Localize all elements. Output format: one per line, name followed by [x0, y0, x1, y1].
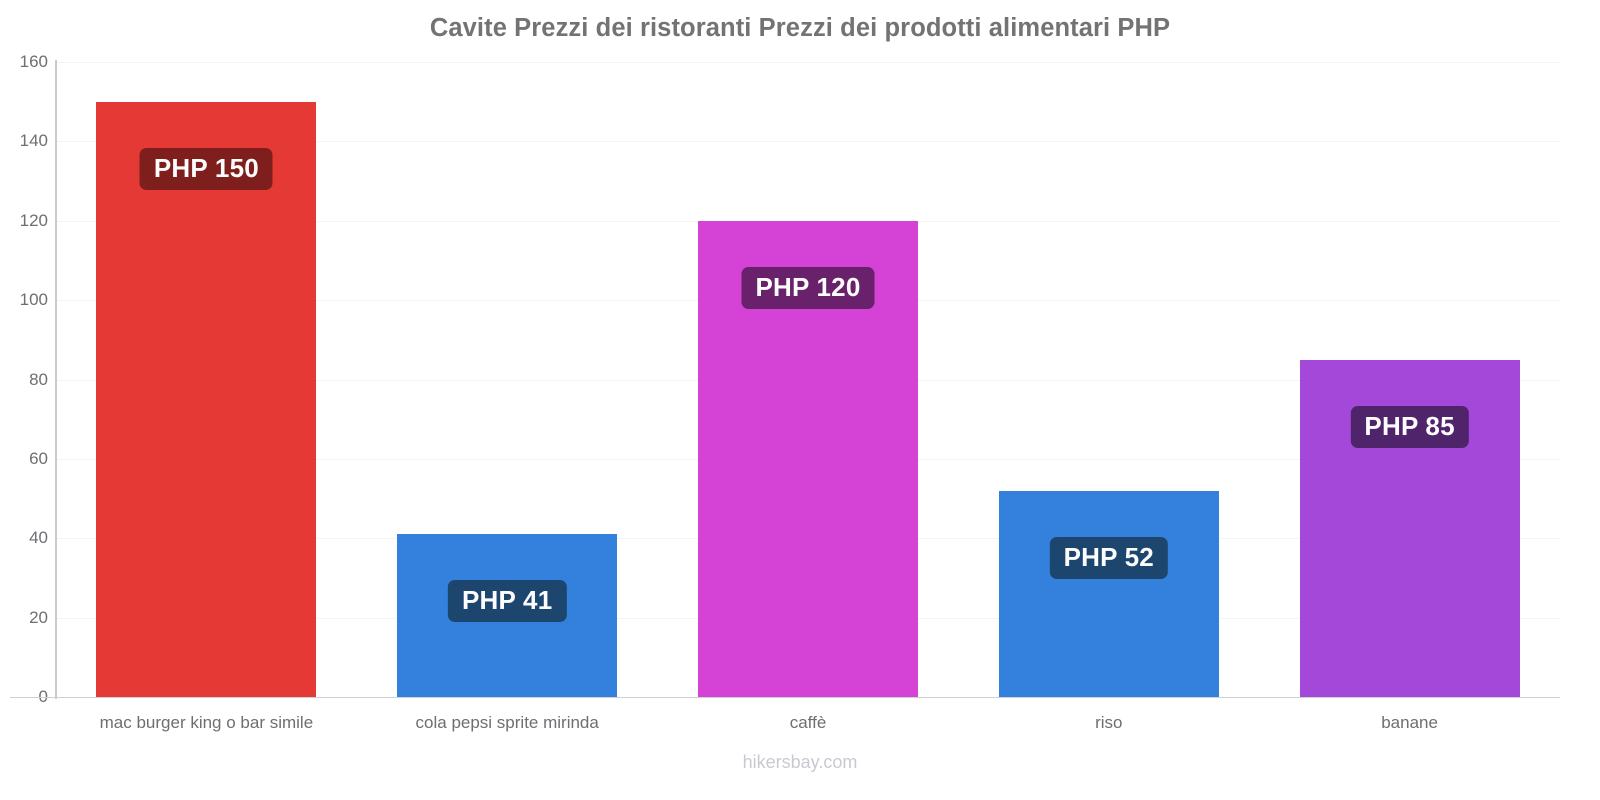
bar-value-label: PHP 41 [448, 580, 566, 622]
x-axis-label: cola pepsi sprite mirinda [416, 713, 599, 733]
y-tick-label-40: 40 [2, 528, 48, 548]
y-tick-label-80: 80 [2, 370, 48, 390]
bar-value-label: PHP 150 [140, 148, 273, 190]
watermark: hikersbay.com [0, 752, 1600, 773]
bar-value-label: PHP 120 [742, 267, 875, 309]
x-axis-label: riso [1095, 713, 1122, 733]
y-axis-line [55, 60, 57, 699]
bar-chart: Cavite Prezzi dei ristoranti Prezzi dei … [0, 0, 1600, 800]
gridline-160 [56, 62, 1560, 63]
chart-title: Cavite Prezzi dei ristoranti Prezzi dei … [0, 14, 1600, 43]
y-tick-label-20: 20 [2, 608, 48, 628]
bar[interactable] [96, 102, 316, 697]
y-tick-label-60: 60 [2, 449, 48, 469]
x-axis-label: caffè [790, 713, 827, 733]
y-axis-tick-labels: 020406080100120140160 [0, 0, 48, 800]
plot-area [56, 62, 1560, 697]
y-tick-label-140: 140 [2, 131, 48, 151]
x-axis-label: mac burger king o bar simile [100, 713, 314, 733]
bar-value-label: PHP 52 [1050, 537, 1168, 579]
x-axis-label: banane [1381, 713, 1438, 733]
bar[interactable] [999, 491, 1219, 697]
bar-value-label: PHP 85 [1350, 406, 1468, 448]
y-tick-label-160: 160 [2, 52, 48, 72]
y-tick-label-100: 100 [2, 290, 48, 310]
x-axis-line [10, 697, 1560, 698]
y-tick-label-120: 120 [2, 211, 48, 231]
